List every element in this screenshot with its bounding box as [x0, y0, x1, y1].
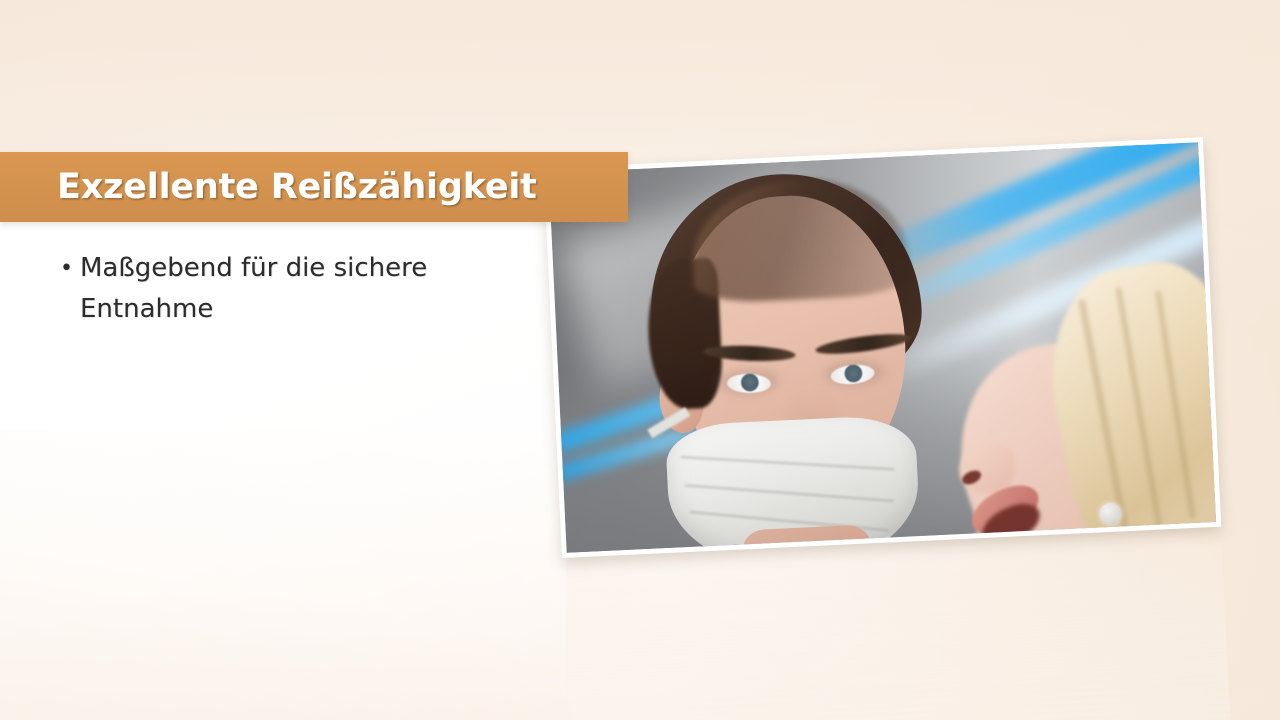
bullet-marker-icon: •	[60, 248, 80, 289]
bullet-text: Maßgebend für die sichere Entnahme	[80, 248, 530, 330]
presentation-slide: Exzellente Reißzähigkeit • Maßgebend für…	[0, 0, 1280, 720]
slide-photo	[543, 137, 1221, 558]
slide-title: Exzellente Reißzähigkeit	[57, 161, 537, 213]
content-panel-fade	[0, 430, 566, 720]
photo-frame	[543, 137, 1221, 558]
photo-image	[549, 142, 1216, 552]
bullet-list: • Maßgebend für die sichere Entnahme	[60, 248, 530, 330]
photo-reflection	[562, 531, 1231, 720]
list-item: • Maßgebend für die sichere Entnahme	[60, 248, 530, 330]
